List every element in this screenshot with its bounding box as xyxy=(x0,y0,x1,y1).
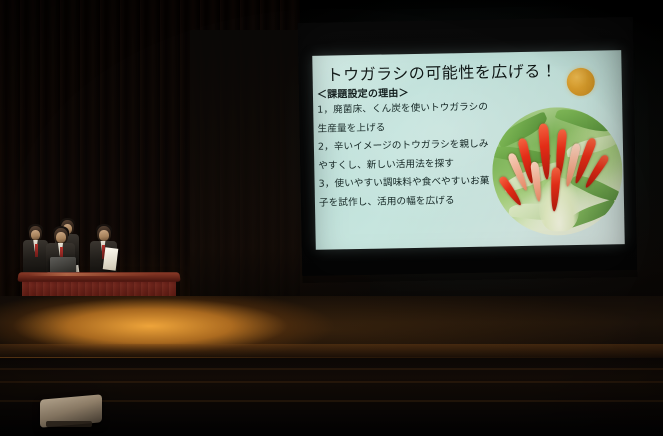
projection-screen: トウガラシの可能性を広げる！ ＜課題設定の理由＞ 1，廃菌床、くん炭を使いトウガ… xyxy=(298,17,638,283)
presentation-photo: トウガラシの可能性を広げる！ ＜課題設定の理由＞ 1，廃菌床、くん炭を使いトウガ… xyxy=(0,0,663,436)
script-sheet xyxy=(103,247,119,270)
projector-lens xyxy=(46,421,92,427)
seat-rail xyxy=(0,368,663,370)
chili-pepper-photo xyxy=(491,106,623,236)
slide-content: トウガラシの可能性を広げる！ ＜課題設定の理由＞ 1，廃菌床、くん炭を使いトウガ… xyxy=(312,50,625,250)
necktie xyxy=(35,244,38,257)
face xyxy=(56,232,66,243)
face xyxy=(31,230,40,240)
desk-highlight xyxy=(28,273,156,276)
slide-title: トウガラシの可能性を広げる！ xyxy=(326,57,557,85)
seat-rail xyxy=(0,381,663,383)
orange-circle-icon xyxy=(567,68,596,97)
slide-subheading: ＜課題設定の理由＞ xyxy=(317,84,409,101)
face xyxy=(99,230,109,241)
